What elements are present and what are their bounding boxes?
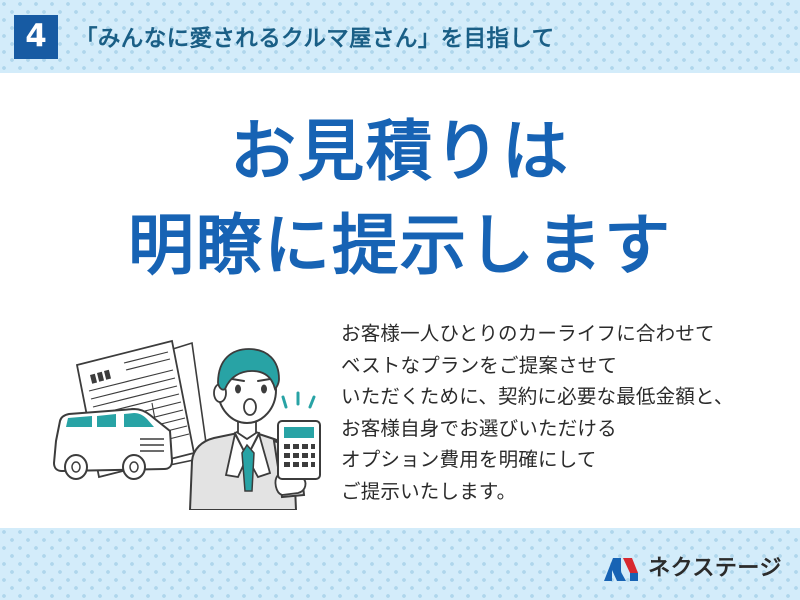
sparkle-icon <box>283 393 314 407</box>
headline-line-2: 明瞭に提示します <box>0 199 800 293</box>
illustration-salesman-estimate-van <box>42 335 332 510</box>
body-line-3: いただくために、契約に必要な最低金額と、 <box>341 381 734 413</box>
nextage-n-mark-icon <box>602 555 640 583</box>
body-line-2: ベストなプランをご提案させて <box>341 350 734 382</box>
van-illustration <box>54 409 172 479</box>
body-line-1: お客様一人ひとりのカーライフに合わせて <box>341 318 734 350</box>
content-panel: お見積りは 明瞭に提示します お客様一人ひとりのカーライフに合わせて ベストなプ… <box>0 73 800 528</box>
body-line-4: お客様自身でお選びいただける <box>341 413 734 445</box>
body-paragraph: お客様一人ひとりのカーライフに合わせて ベストなプランをご提案させて いただくた… <box>341 318 734 507</box>
calculator-icon <box>278 421 320 479</box>
section-number-badge: 4 <box>14 15 58 59</box>
nextage-logo: ネクステージ <box>602 552 782 586</box>
header-title: 「みんなに愛されるクルマ屋さん」を目指して <box>75 21 555 53</box>
headline-line-1: お見積りは <box>0 105 800 199</box>
headline: お見積りは 明瞭に提示します <box>0 105 800 292</box>
slide-header: 4 「みんなに愛されるクルマ屋さん」を目指して <box>0 0 800 73</box>
body-line-5: オプション費用を明確にして <box>341 444 734 476</box>
body-line-6: ご提示いたします。 <box>341 476 734 508</box>
nextage-logo-text: ネクステージ <box>648 558 782 580</box>
slide-root: 4 「みんなに愛されるクルマ屋さん」を目指して お見積りは 明瞭に提示します お… <box>0 0 800 600</box>
